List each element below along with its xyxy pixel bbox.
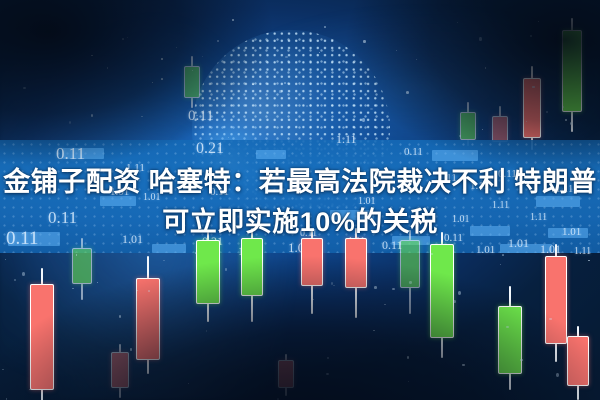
news-cover-image: 0.110.110.111.011.111.011.010.110.210.21… — [0, 0, 600, 400]
headline: 金铺子配资 哈塞特：若最高法院裁决不利 特朗普 可立即实施10%的关税 — [0, 162, 600, 242]
headline-line-2: 可立即实施10%的关税 — [0, 202, 600, 242]
headline-line-1: 金铺子配资 哈塞特：若最高法院裁决不利 特朗普 — [0, 162, 600, 202]
